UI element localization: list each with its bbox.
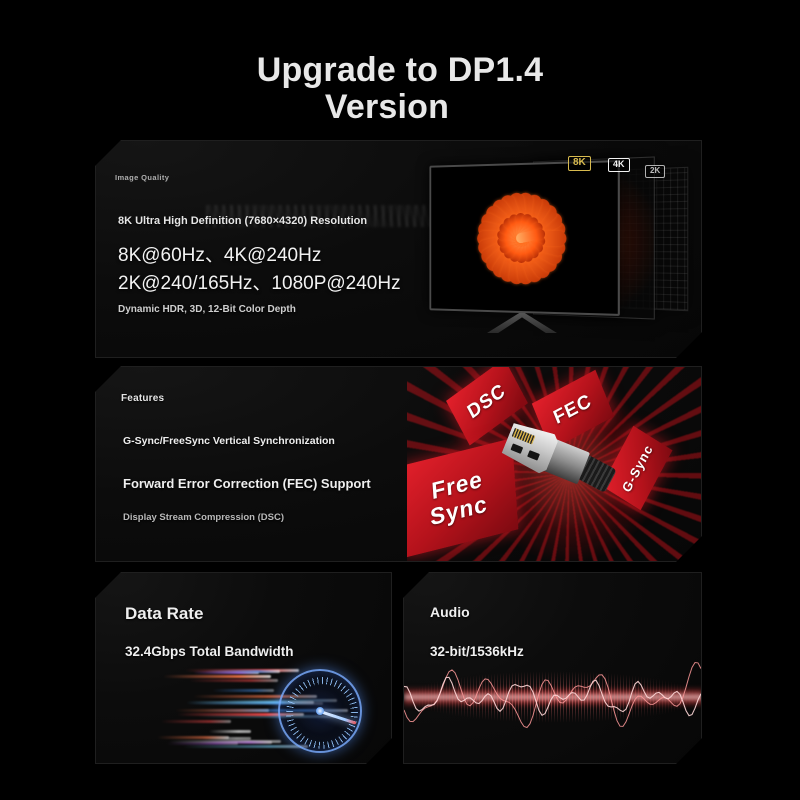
promo-page: Upgrade to DP1.4 Version Image Quality 8… [0, 0, 800, 800]
audio-waveform-artwork [404, 649, 702, 745]
speed-streak [189, 679, 278, 682]
speed-streak [205, 670, 280, 673]
tv-screen-8k [429, 160, 619, 316]
feature-item-gsync: G-Sync/FreeSync Vertical Synchronization [123, 436, 335, 447]
speed-streak [212, 689, 274, 692]
image-quality-kicker: Image Quality [115, 173, 169, 182]
resolution-text: 8K Ultra High Definition (7680×4320) Res… [118, 215, 367, 227]
tv-artwork: 8K 4K 2K [411, 141, 701, 358]
hdr-color-depth-text: Dynamic HDR, 3D, 12-Bit Color Depth [118, 304, 296, 316]
refresh-rate-line-1: 8K@60Hz、4K@240Hz [118, 245, 321, 267]
speed-streak [161, 720, 231, 723]
page-title-line-2: Version [0, 89, 800, 126]
resolution-label: 8K Ultra High Definition (7680×4320) Res… [118, 215, 367, 227]
feature-item-fec: Forward Error Correction (FEC) Support [123, 477, 371, 491]
page-title: Upgrade to DP1.4 Version [0, 52, 800, 125]
speed-streak [183, 745, 308, 748]
badge-4k: 4K [608, 158, 630, 172]
speedometer-artwork [156, 655, 392, 764]
page-title-line-1: Upgrade to DP1.4 [257, 51, 544, 89]
speed-streak [209, 730, 251, 733]
speedometer-dial [278, 669, 362, 753]
dp-slot-right [527, 450, 540, 461]
speedometer-hub [316, 707, 324, 715]
waveform-svg [404, 649, 702, 745]
speed-streak [163, 675, 271, 678]
badge-2k: 2K [645, 165, 665, 178]
tv-stand [487, 313, 557, 333]
feature-item-dsc: Display Stream Compression (DSC) [123, 513, 284, 523]
speed-streak [157, 736, 229, 739]
panel-audio: Audio 32-bit/1536kHz [403, 572, 702, 764]
dp-slot-left [510, 443, 523, 454]
data-rate-kicker: Data Rate [125, 605, 203, 623]
freesync-artwork: DSC FEC G-Sync Free Sync [407, 367, 702, 562]
dp-pins [512, 428, 536, 445]
speed-streak [199, 741, 272, 744]
audio-kicker: Audio [430, 605, 470, 620]
flower-image [464, 177, 580, 300]
panel-data-rate: Data Rate 32.4Gbps Total Bandwidth [95, 572, 392, 764]
features-kicker: Features [121, 394, 164, 405]
badge-8k: 8K [568, 156, 591, 171]
panel-features: Features G-Sync/FreeSync Vertical Synchr… [95, 366, 702, 562]
panel-image-quality: Image Quality 8K Ultra High Definition (… [95, 140, 702, 358]
refresh-rate-line-2: 2K@240/165Hz、1080P@240Hz [118, 273, 401, 295]
